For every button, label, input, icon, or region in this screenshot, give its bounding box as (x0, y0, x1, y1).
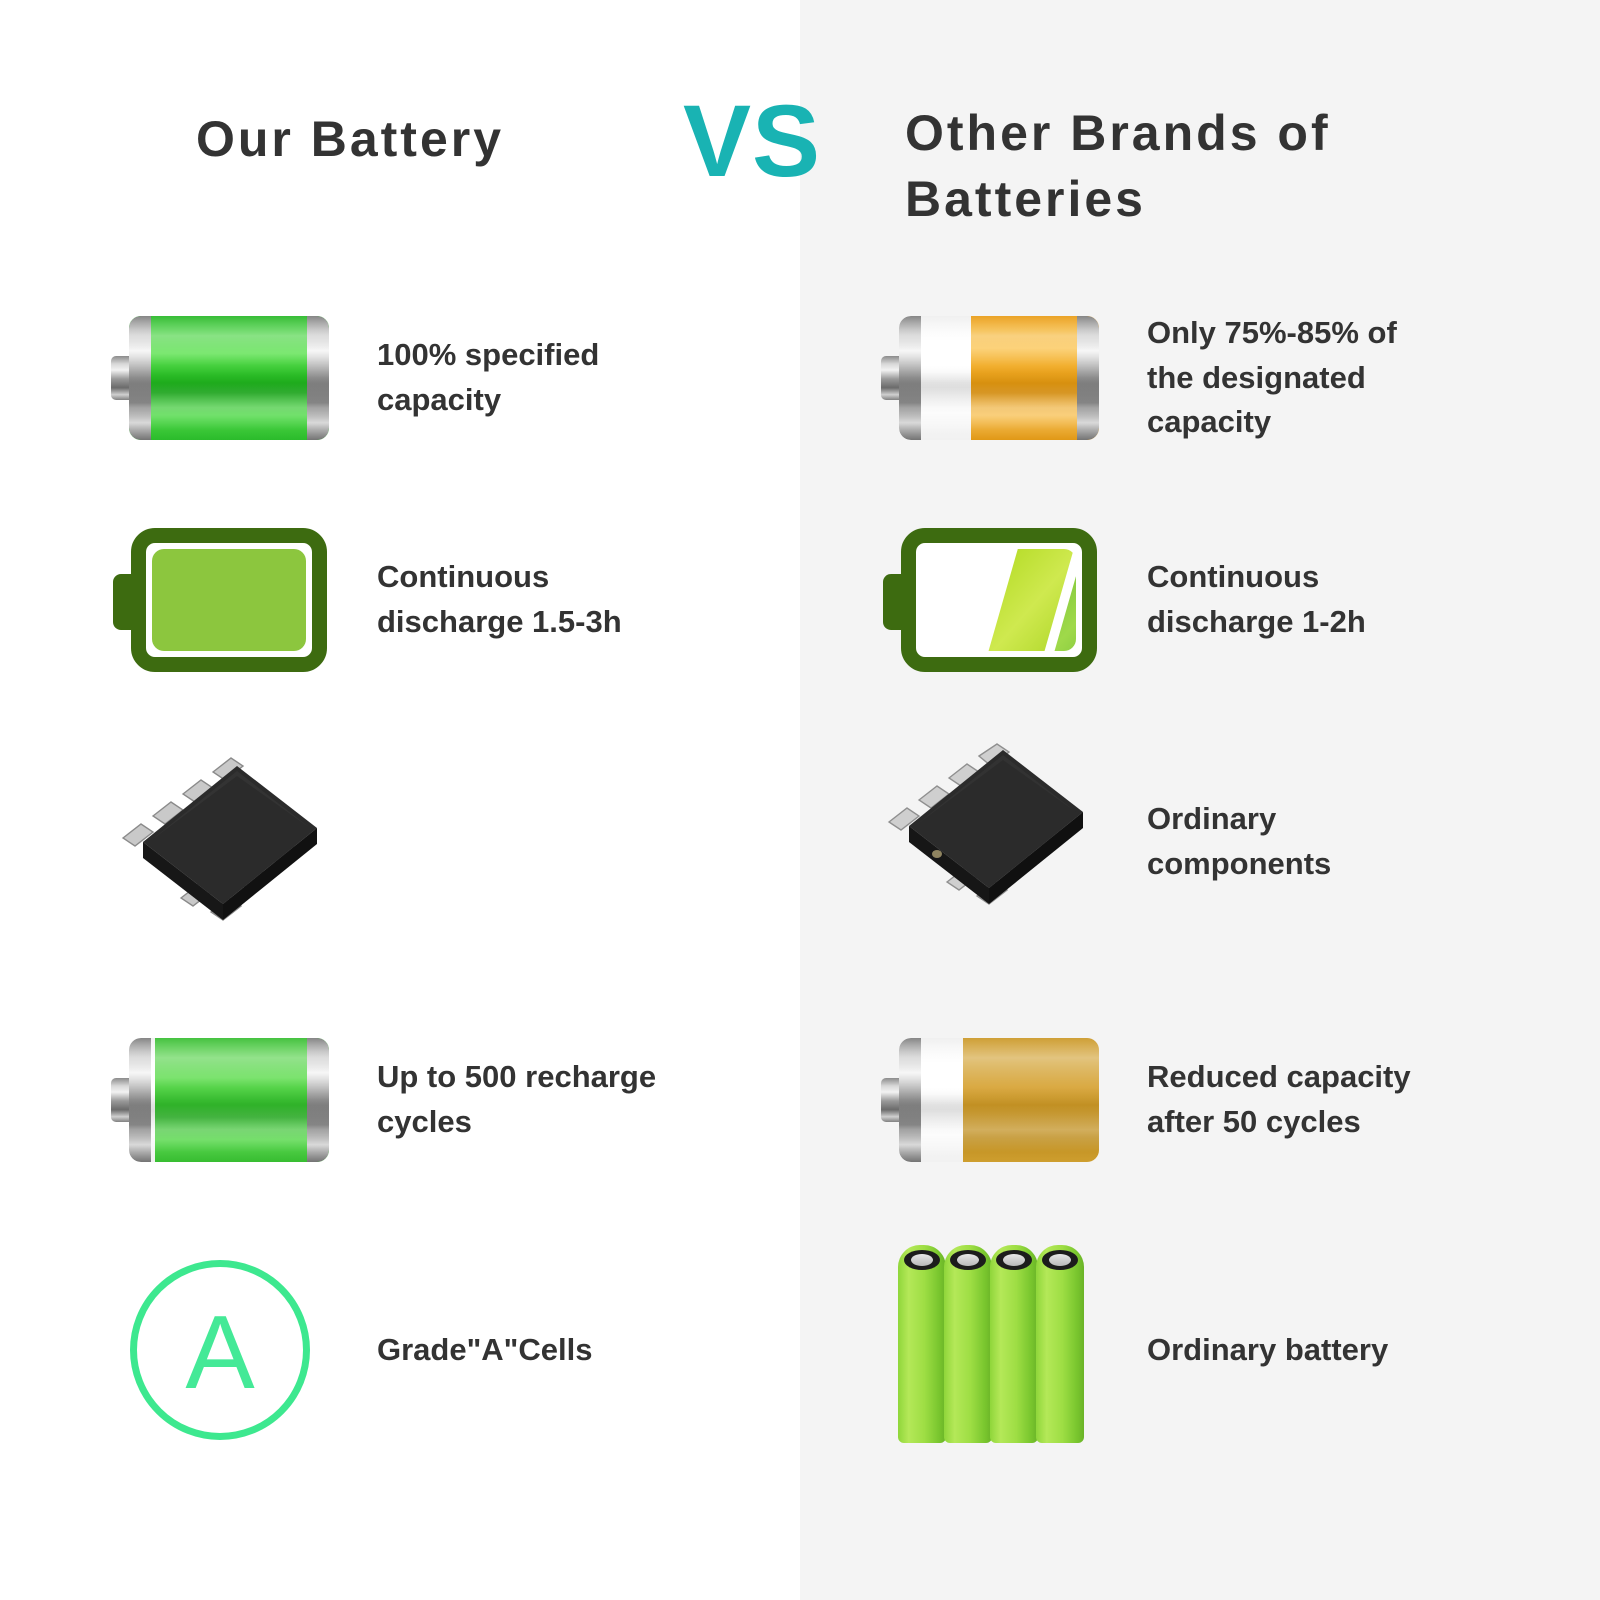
ic-chip-icon (105, 742, 335, 942)
feature-label: Continuous discharge 1.5-3h (345, 555, 622, 645)
icon-slot (865, 1250, 1115, 1450)
cell-terminal (904, 1250, 940, 1270)
feature-row-right-4: Reduced capacity after 50 cycles (865, 1000, 1545, 1200)
battery-shell (901, 528, 1097, 672)
battery-fill (922, 549, 1076, 651)
feature-row-right-5: Ordinary battery (865, 1250, 1545, 1450)
battery-body (129, 316, 329, 440)
icon-slot: A (95, 1250, 345, 1450)
cell-terminal (1042, 1250, 1078, 1270)
cell (944, 1245, 992, 1443)
green-outline-full-battery-icon (113, 528, 327, 672)
battery-cap-right (307, 1038, 329, 1162)
grade-a-letter: A (185, 1301, 254, 1405)
battery-fill (155, 1038, 329, 1162)
battery-fill (129, 316, 329, 440)
icon-slot (95, 500, 345, 700)
cell (990, 1245, 1038, 1443)
battery-fill (963, 1038, 1099, 1162)
green-full-battery-icon (111, 316, 329, 440)
feature-label: Reduced capacity after 50 cycles (1115, 1055, 1411, 1145)
battery-fill (152, 549, 306, 651)
ochre-partial-battery-icon (881, 1038, 1099, 1162)
vs-badge: VS (683, 90, 821, 192)
battery-body (899, 316, 1099, 440)
feature-label: Grade"A"Cells (345, 1328, 592, 1373)
feature-row-left-3 (95, 742, 755, 942)
feature-row-left-2: Continuous discharge 1.5-3h (95, 500, 755, 700)
cell-terminal (950, 1250, 986, 1270)
feature-row-left-5: A Grade"A"Cells (95, 1250, 755, 1450)
feature-row-left-1: 100% specified capacity (95, 278, 755, 478)
grade-a-circle-icon: A (130, 1260, 310, 1440)
green-outline-partial-battery-icon (883, 528, 1097, 672)
icon-slot (95, 278, 345, 478)
feature-label: Ordinary battery (1115, 1328, 1388, 1373)
orange-partial-battery-icon (881, 316, 1099, 440)
icon-slot (865, 742, 1115, 942)
battery-cap-right (1077, 316, 1099, 440)
battery-shell (131, 528, 327, 672)
battery-cap-left (899, 316, 921, 440)
feature-row-right-2: Continuous discharge 1-2h (865, 500, 1545, 700)
page-title-right: Other Brands of Batteries (905, 100, 1525, 232)
battery-cap-left (129, 316, 151, 440)
battery-cap-left (899, 1038, 921, 1162)
comparison-infographic: Our Battery VS Other Brands of Batteries… (0, 0, 1600, 1600)
cell-pack-icon (885, 1245, 1095, 1455)
icon-slot (95, 1000, 345, 1200)
cell (898, 1245, 946, 1443)
battery-cap-right (307, 316, 329, 440)
ic-chip-graphic (105, 742, 335, 942)
feature-row-right-3: Ordinary components (865, 742, 1545, 942)
feature-label: 100% specified capacity (345, 333, 599, 423)
battery-body (129, 1038, 329, 1162)
feature-label: Up to 500 recharge cycles (345, 1055, 656, 1145)
feature-row-left-4: Up to 500 recharge cycles (95, 1000, 755, 1200)
battery-cap-left (129, 1038, 151, 1162)
green-cylindrical-battery-icon (111, 1038, 329, 1162)
battery-body (899, 1038, 1099, 1162)
icon-slot (865, 1000, 1115, 1200)
icon-slot (95, 742, 345, 942)
feature-label: Only 75%-85% of the designated capacity (1115, 311, 1397, 446)
feature-label: Ordinary components (1115, 797, 1331, 887)
cell-terminal (996, 1250, 1032, 1270)
ic-chip-graphic (875, 742, 1105, 942)
cell (1036, 1245, 1084, 1443)
feature-row-right-1: Only 75%-85% of the designated capacity (865, 278, 1545, 478)
feature-label: Continuous discharge 1-2h (1115, 555, 1366, 645)
ic-chip-icon (875, 742, 1105, 942)
icon-slot (865, 278, 1115, 478)
icon-slot (865, 500, 1115, 700)
page-title-left: Our Battery (0, 110, 700, 168)
